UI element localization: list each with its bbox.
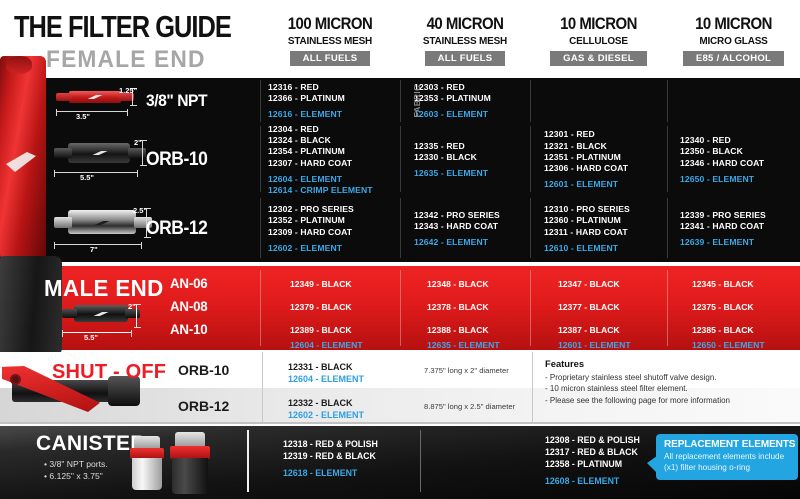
part-number: 12331 - BLACK xyxy=(288,362,353,372)
part-number: 12377 - BLACK xyxy=(558,302,620,312)
dimension-line-length xyxy=(56,111,128,112)
part-number: 12310 - PRO SERIES xyxy=(544,204,680,215)
part-number: 12317 - RED & BLACK xyxy=(545,446,638,458)
part-number: 12301 - RED xyxy=(544,129,680,140)
part-number: 12330 - BLACK xyxy=(414,152,544,163)
page-title: THE FILTER GUIDE xyxy=(14,9,231,45)
column-media-label: STAINLESS MESH xyxy=(267,35,392,47)
part-number-element: 12604 - ELEMENT xyxy=(288,374,364,384)
product-image-orb12: 7" 2.5" xyxy=(46,196,146,262)
part-number: 12309 - HARD COAT xyxy=(268,227,408,238)
shut-off-title: SHUT - OFF xyxy=(52,361,166,384)
part-number-element: 12639 - ELEMENT xyxy=(680,237,800,248)
column-header-40-micron: 40 MICRON STAINLESS MESH ALL FUELS xyxy=(400,14,530,66)
column-media-label: MICRO GLASS xyxy=(670,35,796,47)
part-number-element: 12601 - ELEMENT xyxy=(558,340,631,350)
part-number: 12385 - BLACK xyxy=(692,325,754,335)
part-number-element: 12604 - ELEMENT xyxy=(268,174,408,185)
dimension-length-label: 5.5" xyxy=(80,173,94,182)
column-divider xyxy=(247,430,249,492)
part-number: 12388 - BLACK xyxy=(427,325,489,335)
cell-orb12-10micron-microglass: 12339 - PRO SERIES 12341 - HARD COAT 126… xyxy=(680,196,800,262)
shut-off-dimension: 8.875" long x 2.5" diameter xyxy=(424,402,515,411)
part-number: 12318 - RED & POLISH xyxy=(283,438,378,450)
part-number-element: 12603 - ELEMENT xyxy=(414,109,544,120)
features-panel: Features - Proprietary stainless steel s… xyxy=(545,358,795,406)
part-number: 12343 - HARD COAT xyxy=(414,221,544,232)
dimension-diameter-label: 2" xyxy=(134,138,142,147)
product-image-npt: 3.5" 1.25" xyxy=(46,78,146,124)
part-number: 12335 - RED xyxy=(414,141,544,152)
canister-spec-item: • 3/8" NPT ports. xyxy=(44,458,108,470)
male-end-section: MALE END 5.5" 2" AN-06 AN-08 AN-10 12349… xyxy=(0,266,800,350)
part-number-element: 12635 - ELEMENT xyxy=(427,340,500,350)
dimension-length-label: 5.5" xyxy=(84,333,98,342)
part-number: 12346 - HARD COAT xyxy=(680,158,800,169)
row-label-orb10: ORB-10 xyxy=(146,124,251,196)
part-number: 12306 - HARD COAT xyxy=(544,163,680,174)
part-number: 12307 - HARD COAT xyxy=(268,158,408,169)
feature-item: - 10 micron stainless steel filter eleme… xyxy=(545,383,795,394)
dimension-line-diameter xyxy=(142,140,143,166)
part-number: 12358 - PLATINUM xyxy=(545,458,622,470)
column-divider xyxy=(532,352,533,424)
part-number: 12308 - RED & POLISH xyxy=(545,434,640,446)
part-number: 12341 - HARD COAT xyxy=(680,221,800,232)
part-number-element: 12601 - ELEMENT xyxy=(544,179,680,190)
part-number: 12379 - BLACK xyxy=(290,302,352,312)
part-number: 12340 - RED xyxy=(680,135,800,146)
cell-npt-100micron: 12316 - RED 12366 - PLATINUM 12616 - ELE… xyxy=(268,78,398,124)
dimension-length-label: 3.5" xyxy=(76,112,90,121)
column-divider xyxy=(260,270,261,346)
part-number: 12352 - PLATINUM xyxy=(268,215,408,226)
column-header-10-micron-micro-glass: 10 MICRON MICRO GLASS E85 / ALCOHOL xyxy=(667,14,800,66)
part-number: 12347 - BLACK xyxy=(558,279,620,289)
part-number: 12387 - BLACK xyxy=(558,325,620,335)
cell-orb10-40micron: 12335 - RED 12330 - BLACK 12635 - ELEMEN… xyxy=(414,124,544,196)
male-end-title: MALE END xyxy=(44,275,164,302)
shut-off-size-orb10: ORB-10 xyxy=(178,362,229,378)
table-row-orb10: 5.5" 2" ORB-10 12304 - RED 12324 - BLACK… xyxy=(46,124,800,196)
part-number-element: 12604 - ELEMENT xyxy=(290,340,363,350)
column-divider xyxy=(530,270,531,346)
cell-npt-40micron: FABRIC 12303 - RED 12353 - PLATINUM 1260… xyxy=(414,78,544,124)
replacement-elements-callout: REPLACEMENT ELEMENTS All replacement ele… xyxy=(656,434,798,480)
shut-off-section: SHUT - OFF ORB-10 12331 - BLACK 12604 - … xyxy=(0,352,800,424)
callout-title: REPLACEMENT ELEMENTS xyxy=(656,434,798,450)
column-divider xyxy=(262,352,263,424)
feature-item: - Proprietary stainless steel shutoff va… xyxy=(545,372,795,383)
part-number: 12378 - BLACK xyxy=(427,302,489,312)
dimension-diameter-label: 2" xyxy=(128,302,136,311)
female-end-section: 3.5" 1.25" 3/8" NPT 12316 - RED 12366 - … xyxy=(0,78,800,262)
cell-orb12-40micron: 12342 - PRO SERIES 12343 - HARD COAT 126… xyxy=(414,196,544,262)
part-number-element: 12616 - ELEMENT xyxy=(268,109,398,120)
fabric-tag-label: FABRIC xyxy=(413,85,422,118)
canister-specs: • 3/8" NPT ports. • 6.125" x 3.75" xyxy=(44,458,108,482)
part-number-crimp-element: 12614 - CRIMP ELEMENT xyxy=(268,185,408,196)
canister-body xyxy=(172,458,208,494)
part-number-element: 12602 - ELEMENT xyxy=(288,410,364,420)
part-number-element: 12602 - ELEMENT xyxy=(268,243,408,254)
shut-off-dimension: 7.375" long x 2" diameter xyxy=(424,366,509,375)
part-number: 12351 - PLATINUM xyxy=(544,152,680,163)
column-fuel-badge: ALL FUELS xyxy=(425,51,506,66)
female-end-title: FEMALE END xyxy=(46,46,206,74)
part-number: 12389 - BLACK xyxy=(290,325,352,335)
part-number: 12375 - BLACK xyxy=(692,302,754,312)
column-media-label: CELLULOSE xyxy=(533,35,663,47)
part-number: 12366 - PLATINUM xyxy=(268,93,398,104)
column-micron-label: 100 MICRON xyxy=(272,14,388,34)
part-number-element: 12608 - ELEMENT xyxy=(545,475,619,487)
filter-guide-sheet: THE FILTER GUIDE FEMALE END 100 MICRON S… xyxy=(0,0,800,499)
cell-orb12-100micron: 12302 - PRO SERIES 12352 - PLATINUM 1230… xyxy=(268,196,408,262)
size-label-an10: AN-10 xyxy=(170,321,256,337)
canister-image-polish xyxy=(128,436,168,494)
part-number: 12349 - BLACK xyxy=(290,279,352,289)
dimension-line-length xyxy=(54,172,138,173)
part-number-element: 12635 - ELEMENT xyxy=(414,168,544,179)
part-number-element: 12642 - ELEMENT xyxy=(414,237,544,248)
part-number: 12316 - RED xyxy=(268,82,398,93)
canister-lid xyxy=(175,432,205,447)
column-media-label: STAINLESS MESH xyxy=(403,35,527,47)
section-divider xyxy=(0,422,800,424)
part-number: 12324 - BLACK xyxy=(268,135,408,146)
column-micron-label: 10 MICRON xyxy=(538,14,659,34)
header-band: THE FILTER GUIDE FEMALE END 100 MICRON S… xyxy=(0,0,800,78)
column-fuel-badge: E85 / ALCOHOL xyxy=(683,51,784,66)
cell-orb10-10micron-microglass: 12340 - RED 12350 - BLACK 12346 - HARD C… xyxy=(680,124,800,196)
dimension-line-diameter xyxy=(136,304,137,328)
row-label-orb12: ORB-12 xyxy=(146,196,251,262)
cell-orb10-10micron-cellulose: 12301 - RED 12321 - BLACK 12351 - PLATIN… xyxy=(544,124,680,196)
part-number: 12360 - PLATINUM xyxy=(544,215,680,226)
part-number: 12303 - RED xyxy=(414,82,544,93)
part-number: 12319 - RED & BLACK xyxy=(283,450,376,462)
features-title: Features xyxy=(545,358,795,369)
column-header-10-micron-cellulose: 10 MICRON CELLULOSE GAS & DIESEL xyxy=(530,14,667,66)
canister-spec-item: • 6.125" x 3.75" xyxy=(44,470,108,482)
part-number-element: 12618 - ELEMENT xyxy=(283,467,357,479)
part-number: 12345 - BLACK xyxy=(692,279,754,289)
part-number: 12350 - BLACK xyxy=(680,146,800,157)
part-number: 12348 - BLACK xyxy=(427,279,489,289)
callout-body: All replacement elements include (x1) fi… xyxy=(656,450,798,473)
column-divider xyxy=(420,430,421,492)
feature-item: - Please see the following page for more… xyxy=(545,395,795,406)
canister-body xyxy=(132,458,162,490)
canister-image-black xyxy=(168,432,212,496)
column-fuel-badge: GAS & DIESEL xyxy=(550,51,647,66)
dimension-diameter-label: 1.25" xyxy=(119,86,137,95)
column-divider xyxy=(400,270,401,346)
valve-pivot xyxy=(10,374,21,385)
brand-swoosh-icon xyxy=(6,152,36,172)
dimension-line-length xyxy=(54,244,142,245)
part-number: 12354 - PLATINUM xyxy=(268,146,408,157)
cell-orb12-10micron-cellulose: 12310 - PRO SERIES 12360 - PLATINUM 1231… xyxy=(544,196,680,262)
shut-off-size-orb12: ORB-12 xyxy=(178,398,229,414)
part-number: 12311 - HARD COAT xyxy=(544,227,680,238)
part-number: 12353 - PLATINUM xyxy=(414,93,544,104)
column-micron-label: 10 MICRON xyxy=(675,14,792,34)
dimension-length-label: 7" xyxy=(90,245,98,254)
column-micron-label: 40 MICRON xyxy=(408,14,522,34)
part-number: 12321 - BLACK xyxy=(544,141,680,152)
dimension-diameter-label: 2.5" xyxy=(133,206,147,215)
part-number-element: 12610 - ELEMENT xyxy=(544,243,680,254)
part-number: 12302 - PRO SERIES xyxy=(268,204,408,215)
part-number-element: 12650 - ELEMENT xyxy=(692,340,765,350)
an-fitting-graphic xyxy=(0,256,62,356)
column-divider xyxy=(667,270,668,346)
table-row-npt: 3.5" 1.25" 3/8" NPT 12316 - RED 12366 - … xyxy=(46,78,800,124)
part-number-element: 12650 - ELEMENT xyxy=(680,174,800,185)
part-number: 12339 - PRO SERIES xyxy=(680,210,800,221)
part-number: 12342 - PRO SERIES xyxy=(414,210,544,221)
red-canister-graphic xyxy=(0,56,46,262)
column-fuel-badge: ALL FUELS xyxy=(290,51,371,66)
size-label-an06: AN-06 xyxy=(170,275,256,291)
part-number: 12332 - BLACK xyxy=(288,398,353,408)
row-label-npt: 3/8" NPT xyxy=(146,78,251,124)
size-label-an08: AN-08 xyxy=(170,298,256,314)
column-header-100-micron: 100 MICRON STAINLESS MESH ALL FUELS xyxy=(264,14,396,66)
table-row-orb12: 7" 2.5" ORB-12 12302 - PRO SERIES 12352 … xyxy=(46,196,800,262)
product-image-orb10: 5.5" 2" xyxy=(46,124,146,196)
part-number: 12304 - RED xyxy=(268,124,408,135)
cell-orb10-100micron: 12304 - RED 12324 - BLACK 12354 - PLATIN… xyxy=(268,124,408,196)
